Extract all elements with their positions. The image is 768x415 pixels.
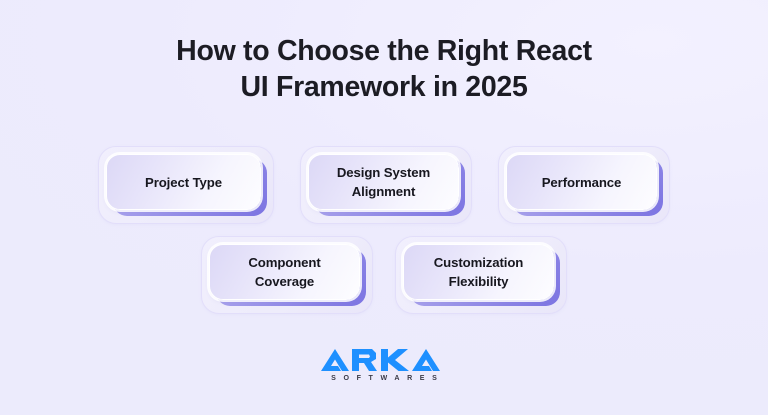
factor-card-label: Design System Alignment [337,163,430,201]
factor-card-label: Component Coverage [248,253,320,291]
card-surface: Customization Flexibility [403,244,554,300]
page-title: How to Choose the Right React UI Framewo… [0,33,768,105]
card-surface: Project Type [106,154,261,210]
factor-card-grid: Project Type Design System Alignment Per… [0,146,768,314]
factor-card-row-2: Component Coverage Customization Flexibi… [0,236,768,314]
page-title-line-1: How to Choose the Right React [0,33,768,69]
card-surface: Component Coverage [209,244,360,300]
factor-card-customization-flexibility[interactable]: Customization Flexibility [395,236,567,314]
card-surface: Design System Alignment [308,154,459,210]
arka-wordmark-icon [320,348,448,372]
factor-card-label: Performance [542,173,622,192]
page-title-line-2: UI Framework in 2025 [0,69,768,105]
factor-card-row-1: Project Type Design System Alignment Per… [0,146,768,224]
brand-logo: SOFTWARES [0,348,768,382]
factor-card-performance[interactable]: Performance [498,146,670,224]
factor-card-label: Project Type [145,173,222,192]
brand-tagline: SOFTWARES [324,374,445,382]
factor-card-design-system-alignment[interactable]: Design System Alignment [300,146,472,224]
factor-card-component-coverage[interactable]: Component Coverage [201,236,373,314]
infographic-canvas: How to Choose the Right React UI Framewo… [0,0,768,415]
card-surface: Performance [506,154,657,210]
factor-card-project-type[interactable]: Project Type [98,146,274,224]
factor-card-label: Customization Flexibility [434,253,524,291]
